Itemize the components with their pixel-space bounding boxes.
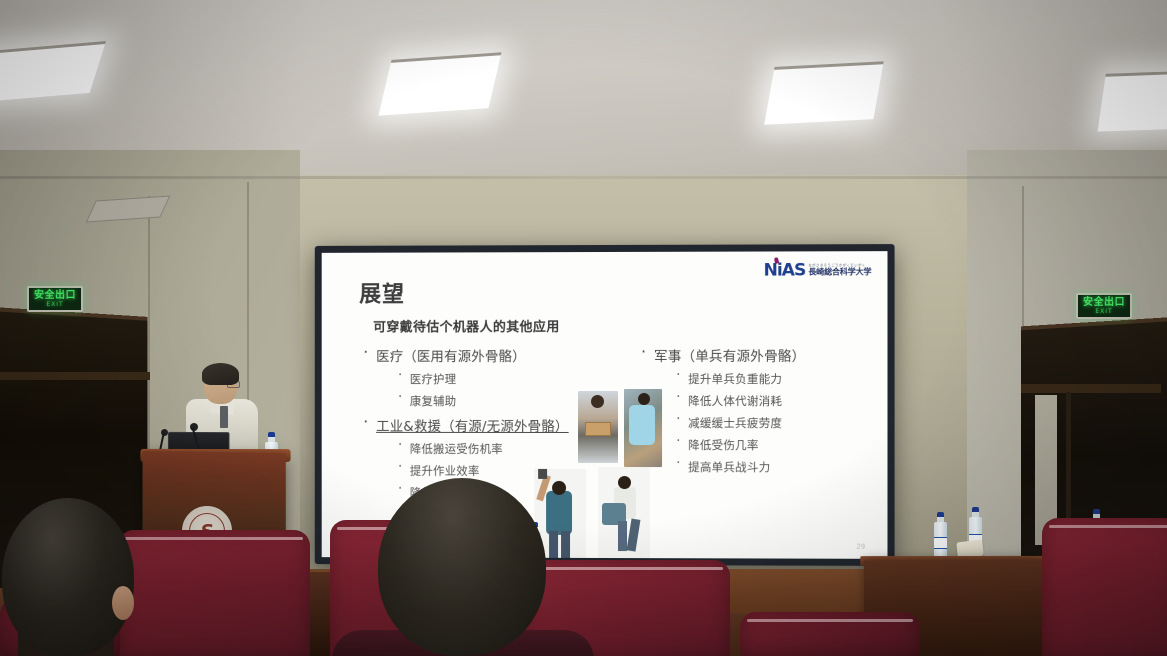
bullet-industry-rescue-label: 工业&救援（有源/无源外骨骼）: [376, 419, 568, 435]
right-bullet-list: 军事（单兵有源外骨骼） 提升单兵负重能力 降低人体代谢消耗 减缓缓士兵疲劳度 降…: [641, 345, 867, 476]
right-alcove-ledge: [1021, 384, 1161, 393]
exit-sign-right: 安全出口 EXIT: [1076, 293, 1132, 319]
bottle-label: [934, 537, 947, 549]
sub-bullet-injury-rate: 降低受伤几率: [676, 437, 867, 453]
sub-bullet-combat-power: 提高单兵战斗力: [676, 459, 867, 475]
slide-page-number: 29: [856, 543, 865, 551]
exit-sign-left-en: EXIT: [46, 301, 63, 308]
sub-bullet-fatigue: 减缓缓士兵疲劳度: [676, 415, 867, 431]
auditorium-seat-4: [1042, 518, 1167, 656]
photo3-power-tool: [538, 469, 547, 479]
slide-subtitle: 可穿戴待估个机器人的其他应用: [373, 316, 871, 336]
bullet-military: 军事（单兵有源外骨骼） 提升单兵负重能力 降低人体代谢消耗 减缓缓士兵疲劳度 降…: [641, 345, 867, 476]
nias-logo-accent-icon: [774, 257, 779, 264]
photo3-leg-right: [561, 531, 570, 559]
left-alcove-ledge: [0, 372, 150, 380]
nias-university-logo: NiAS ながさきそうごうかがくだいがく 長崎総合科学大学: [764, 260, 872, 280]
auditorium-seat-1: [118, 530, 310, 656]
slide-right-column: 军事（单兵有源外骨骼） 提升单兵负重能力 降低人体代谢消耗 减缓缓士兵疲劳度 降…: [611, 339, 867, 530]
audience-head-center: [378, 478, 546, 656]
photo3-head: [552, 481, 566, 495]
photo1-carried-box: [585, 422, 611, 436]
ceiling-light-panel-3: [764, 61, 883, 125]
sub-bullet-metabolic-cost: 降低人体代谢消耗: [676, 393, 867, 409]
ceiling-wall-joint: [0, 176, 1167, 179]
bullet-medical-label: 医疗（医用有源外骨骼）: [376, 349, 526, 365]
photo1-person-head: [591, 395, 604, 408]
ceiling-light-panel-2: [378, 52, 501, 115]
audience-head-left: [2, 498, 134, 656]
nias-logo-text: ながさきそうごうかがくだいがく 長崎総合科学大学: [808, 265, 871, 277]
nias-wordmark: NiAS: [764, 260, 806, 280]
conference-hall-photo: 安全出口 EXIT 安全出口 EXIT NiAS ながさきそうごうかがくだいがく…: [0, 0, 1167, 656]
exit-sign-left: 安全出口 EXIT: [27, 286, 83, 312]
speaker-tie: [220, 406, 228, 428]
nias-logo-japanese-name: 長崎総合科学大学: [808, 268, 871, 276]
ceiling-light-panel-4: [1098, 70, 1167, 131]
audience-ear-left: [112, 586, 134, 620]
bullet-military-label: 军事（单兵有源外骨骼）: [654, 349, 805, 365]
water-bottle-right-1: [934, 512, 947, 562]
sub-bullet-medical-care: 医疗护理: [398, 371, 611, 387]
bullet-medical: 医疗（医用有源外骨骼） 医疗护理 康复辅助: [363, 345, 611, 409]
auditorium-seat-6: [740, 612, 920, 656]
photo3-leg-left: [549, 531, 558, 559]
photo3-torso: [546, 491, 572, 535]
exit-sign-left-cn: 安全出口: [34, 291, 76, 301]
exit-sign-right-en: EXIT: [1095, 308, 1112, 315]
sub-bullet-load-capacity: 提升单兵负重能力: [676, 371, 867, 387]
exit-sign-right-cn: 安全出口: [1083, 298, 1125, 308]
military-sub-list: 提升单兵负重能力 降低人体代谢消耗 减缓缓士兵疲劳度 降低受伤几率 提高单兵战斗…: [676, 371, 867, 476]
speaker-glasses-icon: [227, 381, 240, 388]
